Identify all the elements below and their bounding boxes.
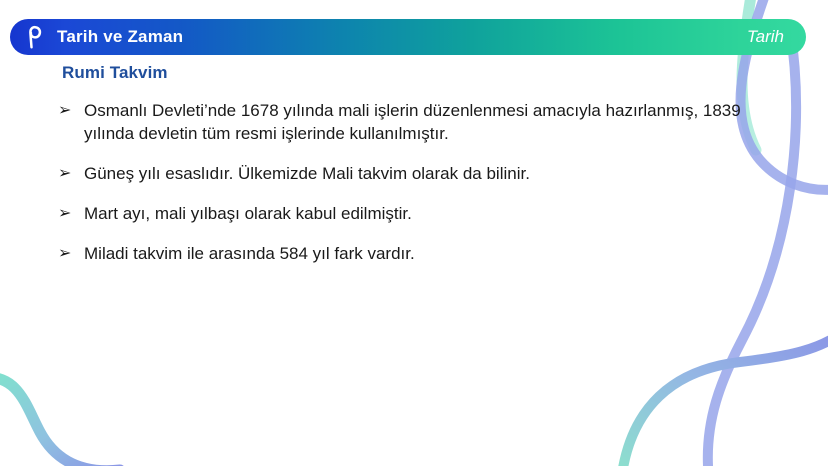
header-title: Tarih ve Zaman bbox=[57, 27, 183, 47]
arc-decoration bbox=[622, 330, 828, 466]
stylized-p-logo-icon bbox=[20, 24, 46, 50]
list-item: ➢ Güneş yılı esaslıdır. Ülkemizde Mali t… bbox=[0, 162, 828, 185]
slide-canvas: Tarih ve Zaman Tarih Rumi Takvim ➢ Osman… bbox=[0, 0, 828, 466]
bullet-list: ➢ Osmanlı Devleti’nde 1678 yılında mali … bbox=[0, 99, 828, 265]
header-bar: Tarih ve Zaman Tarih bbox=[10, 19, 806, 55]
bullet-arrow-icon: ➢ bbox=[58, 99, 84, 122]
section-title: Rumi Takvim bbox=[62, 63, 828, 83]
list-item: ➢ Osmanlı Devleti’nde 1678 yılında mali … bbox=[0, 99, 828, 145]
list-item-text: Mart ayı, mali yılbaşı olarak kabul edil… bbox=[84, 202, 412, 225]
bullet-arrow-icon: ➢ bbox=[58, 202, 84, 225]
list-item-text: Güneş yılı esaslıdır. Ülkemizde Mali tak… bbox=[84, 162, 530, 185]
list-item: ➢ Mart ayı, mali yılbaşı olarak kabul ed… bbox=[0, 202, 828, 225]
slide-content: Rumi Takvim ➢ Osmanlı Devleti’nde 1678 y… bbox=[0, 63, 828, 282]
list-item-text: Miladi takvim ile arasında 584 yıl fark … bbox=[84, 242, 415, 265]
list-item-text: Osmanlı Devleti’nde 1678 yılında mali iş… bbox=[84, 99, 744, 145]
header-tag-label: Tarih bbox=[747, 27, 784, 47]
wave-decoration bbox=[0, 377, 120, 466]
bullet-arrow-icon: ➢ bbox=[58, 242, 84, 265]
bullet-arrow-icon: ➢ bbox=[58, 162, 84, 185]
list-item: ➢ Miladi takvim ile arasında 584 yıl far… bbox=[0, 242, 828, 265]
